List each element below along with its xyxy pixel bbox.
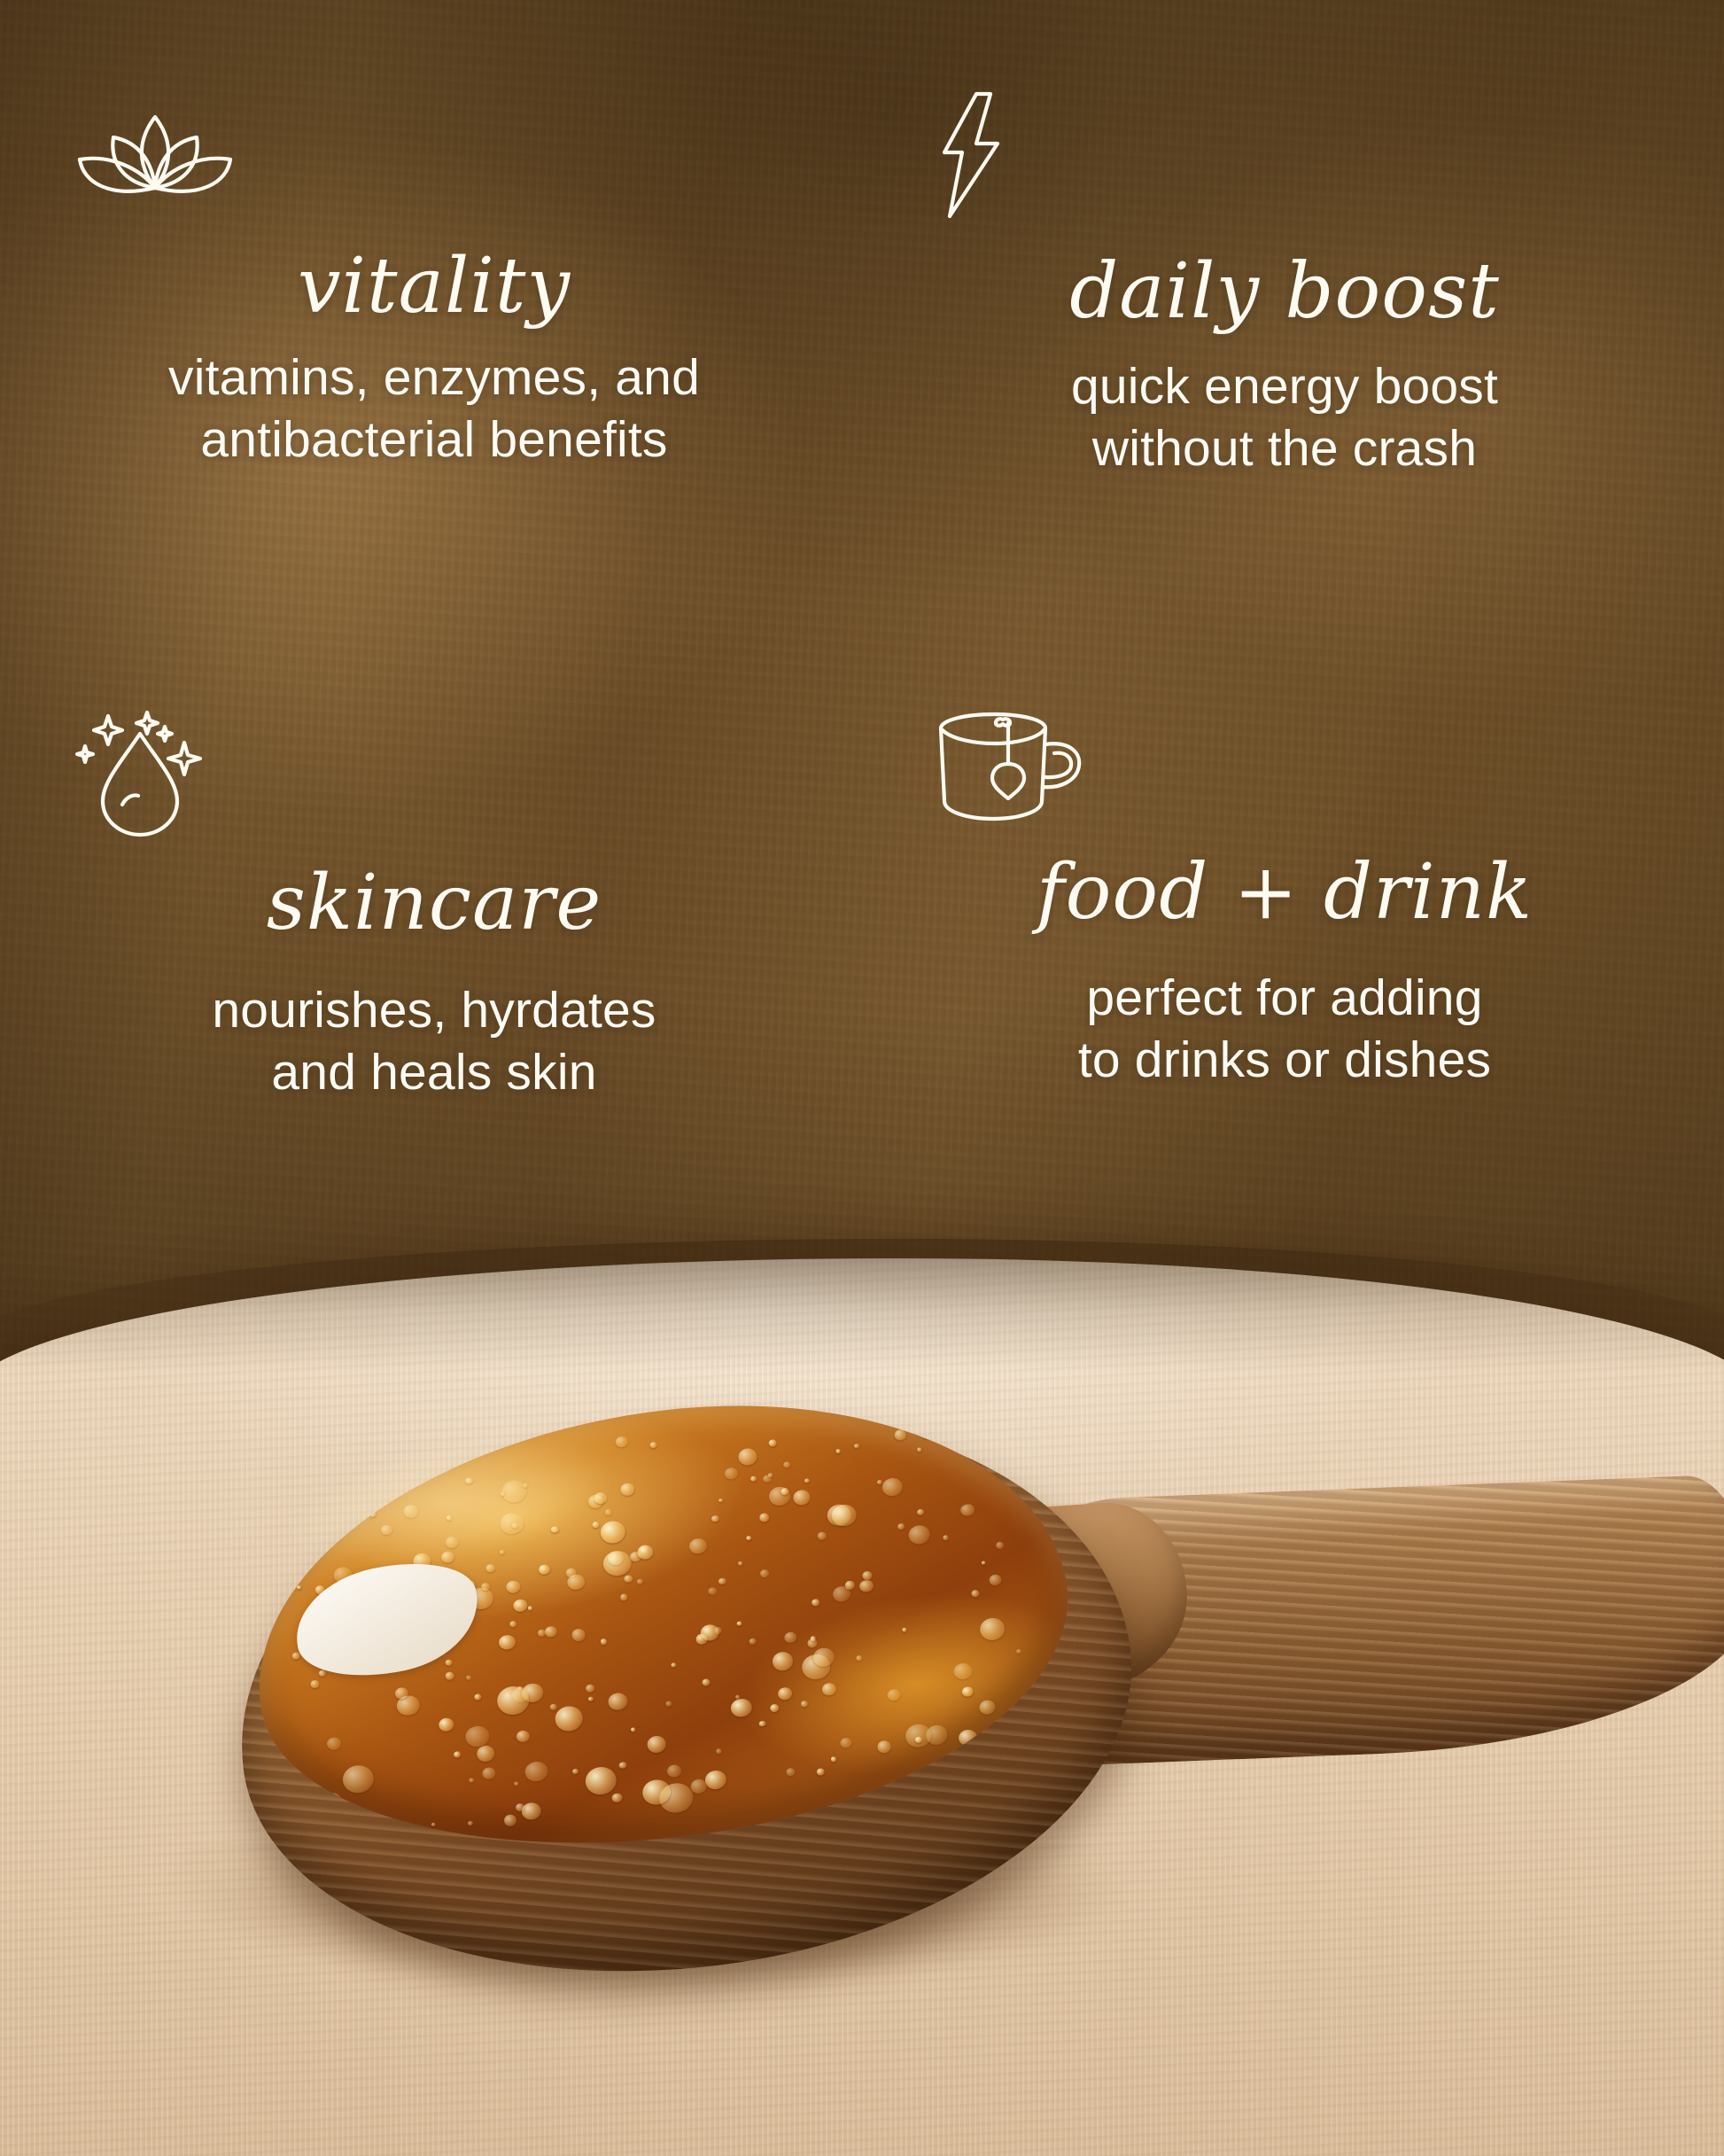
honey-bubble	[759, 1569, 769, 1578]
honey-bubble	[666, 1764, 681, 1779]
honey-bubble	[476, 1745, 495, 1763]
benefit-body-line: to drinks or dishes	[921, 1030, 1648, 1092]
honey-bubble	[665, 1701, 672, 1707]
honey-benefits-poster: vitality vitamins, enzymes, and antibact…	[0, 0, 1724, 2156]
honey-bubble	[473, 1693, 481, 1701]
honey-bubble	[877, 1740, 892, 1753]
honey-bubble	[608, 1692, 629, 1711]
honey-bubble	[454, 1750, 462, 1757]
honey-bubble	[549, 1703, 557, 1710]
honey-bubble	[858, 1579, 874, 1593]
benefit-body-line: and heals skin	[71, 1042, 797, 1104]
honey-bubble	[982, 1561, 987, 1565]
honey-bubble	[989, 1574, 1002, 1586]
honey-bubble	[466, 1676, 471, 1680]
honey-bubble	[620, 1593, 628, 1600]
benefit-body-line: quick energy boost	[921, 356, 1648, 418]
honey-bubble	[854, 1444, 859, 1449]
honey-bubble	[943, 1535, 949, 1541]
benefit-heading: vitality	[71, 248, 797, 324]
honey-bubble	[571, 1628, 586, 1641]
honey-bubble	[671, 1662, 677, 1668]
honey-bubble	[538, 1630, 547, 1638]
honey-bubble	[817, 1531, 827, 1541]
honey-bubble	[961, 1685, 974, 1697]
honey-bubble	[468, 1821, 473, 1826]
honey-bubble	[630, 1727, 635, 1732]
honey-bubble	[971, 1590, 980, 1598]
honey-bubble	[571, 1769, 579, 1775]
honey-bubble	[792, 1489, 811, 1506]
honey-bubble	[769, 1703, 779, 1712]
honey-bubble	[785, 1768, 795, 1777]
benefit-card-food-drink: food + drink perfect for adding to drink…	[921, 709, 1648, 1091]
honey-bubble	[804, 1478, 811, 1483]
honey-bubble	[583, 1764, 617, 1796]
honey-bubble	[801, 1701, 808, 1708]
honey-bubble	[979, 1616, 1006, 1641]
honey-bubble	[996, 1541, 1005, 1549]
honey-bubble	[736, 1621, 742, 1626]
honey-bubble	[816, 1768, 826, 1777]
honey-bubble	[835, 1449, 841, 1454]
honey-bubble	[979, 1700, 997, 1716]
honey-bubble	[777, 1686, 793, 1701]
honey-bubble	[482, 1767, 496, 1780]
honey-bubble	[902, 1627, 907, 1631]
honey-bubble	[326, 1736, 342, 1750]
honey-bubble	[749, 1475, 757, 1482]
honey-bubble	[862, 1571, 873, 1581]
honey-bubble	[646, 1735, 667, 1754]
honey-bubble	[469, 1778, 475, 1783]
honey-bubble	[431, 1823, 436, 1827]
honey-bubble	[514, 1782, 519, 1786]
honey-bubble	[738, 1447, 758, 1466]
honey-bubble	[916, 1508, 924, 1515]
honey-bubble	[498, 1634, 516, 1651]
benefit-body: vitamins, enzymes, and antibacterial ben…	[71, 347, 797, 471]
honey-bubble	[724, 1467, 739, 1480]
honey-bubble	[439, 1717, 455, 1732]
benefit-body: perfect for adding to drinks or dishes	[921, 968, 1648, 1091]
honey-bubble	[512, 1599, 528, 1613]
honey-bubble	[810, 1635, 817, 1641]
honey-bubble	[1016, 1648, 1022, 1654]
honey-bubble	[600, 1638, 607, 1645]
benefit-body-line: antibacterial benefits	[71, 409, 797, 471]
honey-bubble	[611, 1793, 623, 1803]
honey-bubble	[310, 1680, 319, 1689]
honey-bubble	[831, 1756, 837, 1762]
honey-bubble	[618, 1762, 627, 1770]
honey-bubble	[716, 1748, 722, 1755]
honey-bubble	[994, 1462, 999, 1467]
honey-bubble	[702, 1678, 711, 1687]
honey-bubble	[758, 1720, 765, 1727]
honey-bubble	[624, 1575, 633, 1584]
honey-bubble	[749, 1638, 757, 1645]
honey-bubble	[703, 1770, 727, 1791]
honey-bubble	[524, 1761, 549, 1783]
benefit-body-line: vitamins, enzymes, and	[71, 347, 797, 409]
honey-bubble	[952, 1662, 973, 1681]
honey-bubble	[445, 1672, 454, 1681]
honey-bubble	[907, 1524, 931, 1546]
benefit-body-line: nourishes, hyrdates	[71, 980, 797, 1042]
honey-bubble	[637, 1578, 644, 1584]
honey-bubble	[771, 1651, 794, 1671]
lotus-icon	[71, 106, 797, 213]
honey-bubble	[821, 1682, 837, 1696]
honey-bubble	[319, 1670, 326, 1677]
benefit-body-line: perfect for adding	[921, 968, 1648, 1030]
lightning-bolt-icon	[921, 89, 1648, 222]
honey-bubble	[503, 1814, 517, 1826]
honey-bubble	[553, 1705, 584, 1733]
honey-bubble	[768, 1473, 773, 1478]
honey-bubble	[509, 1620, 517, 1627]
honey-bubble	[708, 1586, 718, 1595]
tea-mug-heart-icon	[921, 709, 1648, 824]
honey-bubble	[730, 1697, 753, 1718]
honey-bubble	[960, 1503, 975, 1516]
honey-bubble	[292, 1653, 300, 1661]
honey-bubble	[746, 1535, 752, 1541]
benefit-body-line: without the crash	[921, 418, 1648, 480]
honey-bubble	[782, 1461, 791, 1469]
sparkling-droplet-icon	[71, 709, 797, 842]
honey-bubble	[340, 1763, 376, 1795]
honey-bubble	[688, 1537, 708, 1555]
honey-bubble	[521, 1802, 542, 1821]
honey-bubble	[897, 1523, 905, 1530]
honey-bubble	[586, 1684, 595, 1693]
benefit-card-daily-boost: daily boost quick energy boost without t…	[921, 89, 1648, 479]
honey-bubble	[840, 1737, 852, 1748]
benefits-grid: vitality vitamins, enzymes, and antibact…	[0, 0, 1724, 1258]
honey-bubble	[516, 1730, 531, 1743]
honey-bubble	[881, 1477, 904, 1498]
benefit-body: nourishes, hyrdates and heals skin	[71, 980, 797, 1103]
honey-bubble	[768, 1438, 777, 1446]
benefit-heading: food + drink	[921, 854, 1648, 930]
honey-bubble	[894, 1428, 907, 1441]
benefit-heading: daily boost	[921, 253, 1648, 330]
honey-bubble	[695, 1633, 708, 1645]
honey-bubble	[758, 1513, 769, 1522]
honey-bubble	[917, 1447, 922, 1452]
honey-bubble	[887, 1688, 902, 1701]
benefit-card-vitality: vitality vitamins, enzymes, and antibact…	[71, 106, 797, 471]
honey-bubble	[856, 1655, 862, 1662]
honey-bubble	[445, 1659, 453, 1666]
honey-bubble	[527, 1606, 532, 1610]
benefit-card-skincare: skincare nourishes, hyrdates and heals s…	[71, 709, 797, 1103]
benefit-body: quick energy boost without the crash	[921, 356, 1648, 479]
benefit-heading: skincare	[71, 865, 797, 941]
honey-bubble	[812, 1599, 820, 1607]
honey-bubble	[784, 1631, 797, 1643]
honey-bubble	[738, 1561, 743, 1567]
honey-bubble	[844, 1580, 855, 1590]
honey-bubble	[544, 1626, 557, 1638]
honey-bubble	[587, 1696, 594, 1701]
honey-bubble	[718, 1577, 726, 1584]
